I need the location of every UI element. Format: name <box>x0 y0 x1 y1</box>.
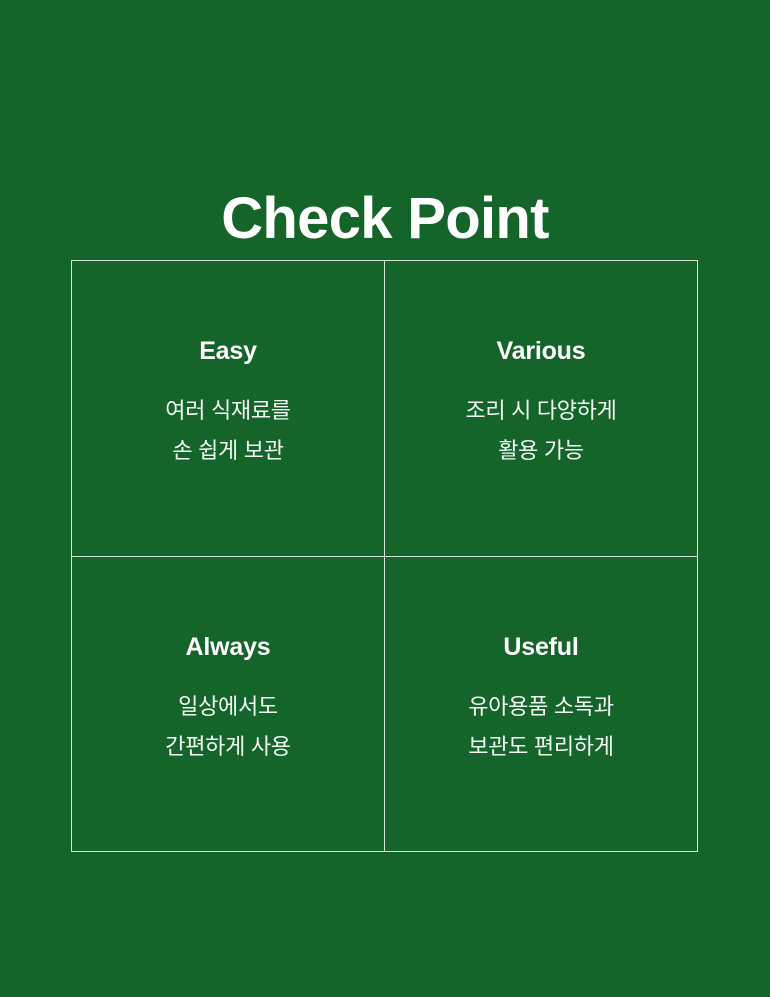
cell-content-various: Various 조리 시 다양하게 활용 가능 <box>385 335 697 471</box>
cell-body-easy-line-1: 여러 식재료를 <box>72 391 384 431</box>
page-title: Check Point <box>0 182 770 256</box>
cell-heading-useful: Useful <box>385 631 697 663</box>
cell-body-useful: 유아용품 소독과 보관도 편리하게 <box>385 687 697 767</box>
cell-body-always-line-1: 일상에서도 <box>72 687 384 727</box>
check-cell-various: Various 조리 시 다양하게 활용 가능 <box>385 261 698 557</box>
cell-body-useful-line-1: 유아용품 소독과 <box>385 687 697 727</box>
check-cell-easy: Easy 여러 식재료를 손 쉽게 보관 <box>72 261 385 557</box>
cell-content-easy: Easy 여러 식재료를 손 쉽게 보관 <box>72 335 384 471</box>
cell-body-various: 조리 시 다양하게 활용 가능 <box>385 391 697 471</box>
cell-content-useful: Useful 유아용품 소독과 보관도 편리하게 <box>385 631 697 767</box>
cell-heading-various: Various <box>385 335 697 367</box>
check-point-poster: Check Point Easy 여러 식재료를 손 쉽게 보관 Various… <box>0 0 770 997</box>
cell-heading-easy: Easy <box>72 335 384 367</box>
cell-body-easy-line-2: 손 쉽게 보관 <box>72 431 384 471</box>
cell-body-always-line-2: 간편하게 사용 <box>72 727 384 767</box>
cell-body-always: 일상에서도 간편하게 사용 <box>72 687 384 767</box>
check-point-grid: Easy 여러 식재료를 손 쉽게 보관 Various 조리 시 다양하게 활… <box>71 260 698 852</box>
cell-body-easy: 여러 식재료를 손 쉽게 보관 <box>72 391 384 471</box>
cell-heading-always: Always <box>72 631 384 663</box>
cell-body-various-line-1: 조리 시 다양하게 <box>385 391 697 431</box>
cell-content-always: Always 일상에서도 간편하게 사용 <box>72 631 384 767</box>
check-cell-useful: Useful 유아용품 소독과 보관도 편리하게 <box>385 557 698 853</box>
cell-body-various-line-2: 활용 가능 <box>385 431 697 471</box>
check-cell-always: Always 일상에서도 간편하게 사용 <box>72 557 385 853</box>
cell-body-useful-line-2: 보관도 편리하게 <box>385 727 697 767</box>
